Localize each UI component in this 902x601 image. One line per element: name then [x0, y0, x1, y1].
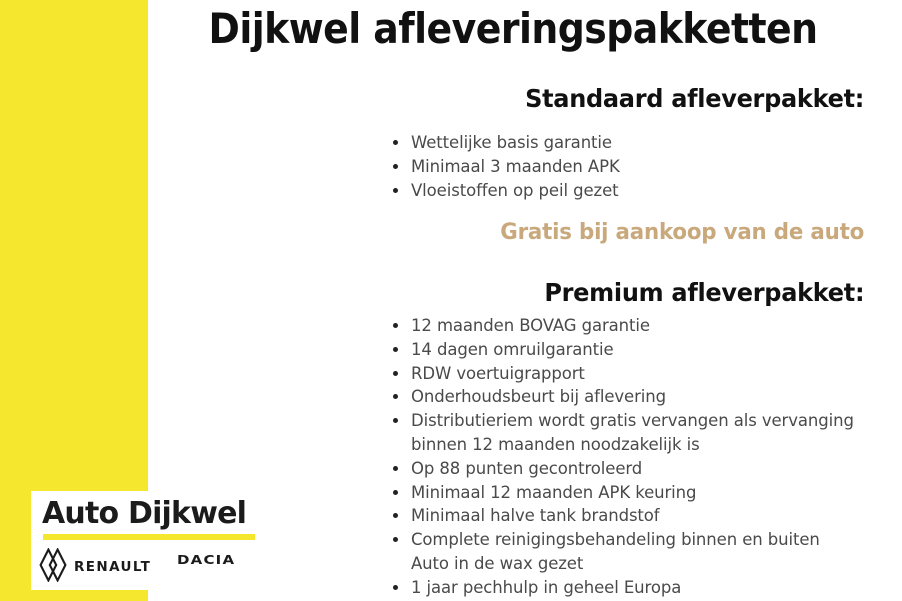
- bullet-dot-icon: [393, 323, 398, 328]
- renault-lockup: RENAULT: [39, 548, 151, 586]
- list-item-label: Onderhoudsbeurt bij aflevering: [411, 387, 666, 406]
- list-item-label: Wettelijke basis garantie: [411, 133, 612, 152]
- page-title: Dijkwel afleveringspakketten: [185, 2, 842, 56]
- dealer-logo: Auto Dijkwel RENAULT DACIA: [31, 491, 269, 590]
- list-item-label: 12 maanden BOVAG garantie: [411, 316, 650, 335]
- list-item: Distributieriem wordt gratis vervangen a…: [393, 409, 881, 457]
- list-item: 12 maanden BOVAG garantie: [393, 314, 881, 338]
- list-item: Auto in de wax gezet: [393, 552, 881, 576]
- promo-text: Gratis bij aankoop van de auto: [500, 218, 864, 248]
- logo-wordmark: Auto Dijkwel: [42, 495, 246, 533]
- bullet-dot-icon: [393, 418, 398, 423]
- list-item-label: RDW voertuigrapport: [411, 364, 585, 383]
- list-item-label: Op 88 punten gecontroleerd: [411, 459, 642, 478]
- list-item: Complete reinigingsbehandeling binnen en…: [393, 528, 881, 552]
- list-item: Wettelijke basis garantie: [393, 131, 620, 155]
- list-item: Op 88 punten gecontroleerd: [393, 457, 881, 481]
- bullet-dot-icon: [393, 188, 398, 193]
- list-item: 14 dagen omruilgarantie: [393, 338, 881, 362]
- premium-package-heading: Premium afleverpakket:: [544, 277, 864, 309]
- bullet-dot-icon: [393, 585, 398, 590]
- dacia-wordmark: DACIA: [177, 553, 235, 567]
- bullet-dot-icon: [393, 537, 398, 542]
- standard-package-heading: Standaard afleverpakket:: [525, 83, 864, 115]
- bullet-dot-icon: [393, 490, 398, 495]
- brand-lockups: RENAULT DACIA: [39, 545, 267, 587]
- standard-package-list: Wettelijke basis garantieMinimaal 3 maan…: [393, 131, 620, 202]
- list-item: Minimaal halve tank brandstof: [393, 504, 881, 528]
- list-item-label: 14 dagen omruilgarantie: [411, 340, 614, 359]
- list-item: Minimaal 3 maanden APK: [393, 155, 620, 179]
- list-item: Vloeistoffen op peil gezet: [393, 179, 620, 203]
- premium-package-list: 12 maanden BOVAG garantie14 dagen omruil…: [393, 314, 881, 600]
- logo-underline-bar: [43, 534, 255, 540]
- list-item: RDW voertuigrapport: [393, 362, 881, 386]
- renault-wordmark: RENAULT: [74, 559, 151, 575]
- bullet-dot-icon: [393, 347, 398, 352]
- bullet-dot-icon: [393, 164, 398, 169]
- list-item-label: Minimaal 12 maanden APK keuring: [411, 483, 696, 502]
- list-item: Onderhoudsbeurt bij aflevering: [393, 385, 881, 409]
- bullet-dot-icon: [393, 371, 398, 376]
- list-item: Minimaal 12 maanden APK keuring: [393, 481, 881, 505]
- bullet-dot-icon: [393, 513, 398, 518]
- list-item-label: Complete reinigingsbehandeling binnen en…: [411, 530, 820, 549]
- list-item-label: Minimaal halve tank brandstof: [411, 506, 660, 525]
- list-item-label: Vloeistoffen op peil gezet: [411, 181, 619, 200]
- list-item-label: 1 jaar pechhulp in geheel Europa: [411, 578, 681, 597]
- list-item-label: Minimaal 3 maanden APK: [411, 157, 620, 176]
- list-item-label: Auto in de wax gezet: [411, 554, 583, 573]
- bullet-dot-icon: [393, 394, 398, 399]
- bullet-dot-icon: [393, 140, 398, 145]
- list-item: 1 jaar pechhulp in geheel Europa: [393, 576, 881, 600]
- bullet-dot-icon: [393, 466, 398, 471]
- list-item-label: Distributieriem wordt gratis vervangen a…: [411, 411, 854, 454]
- poster-canvas: Dijkwel afleveringspakketten Standaard a…: [0, 0, 902, 601]
- renault-diamond-icon: [39, 548, 67, 586]
